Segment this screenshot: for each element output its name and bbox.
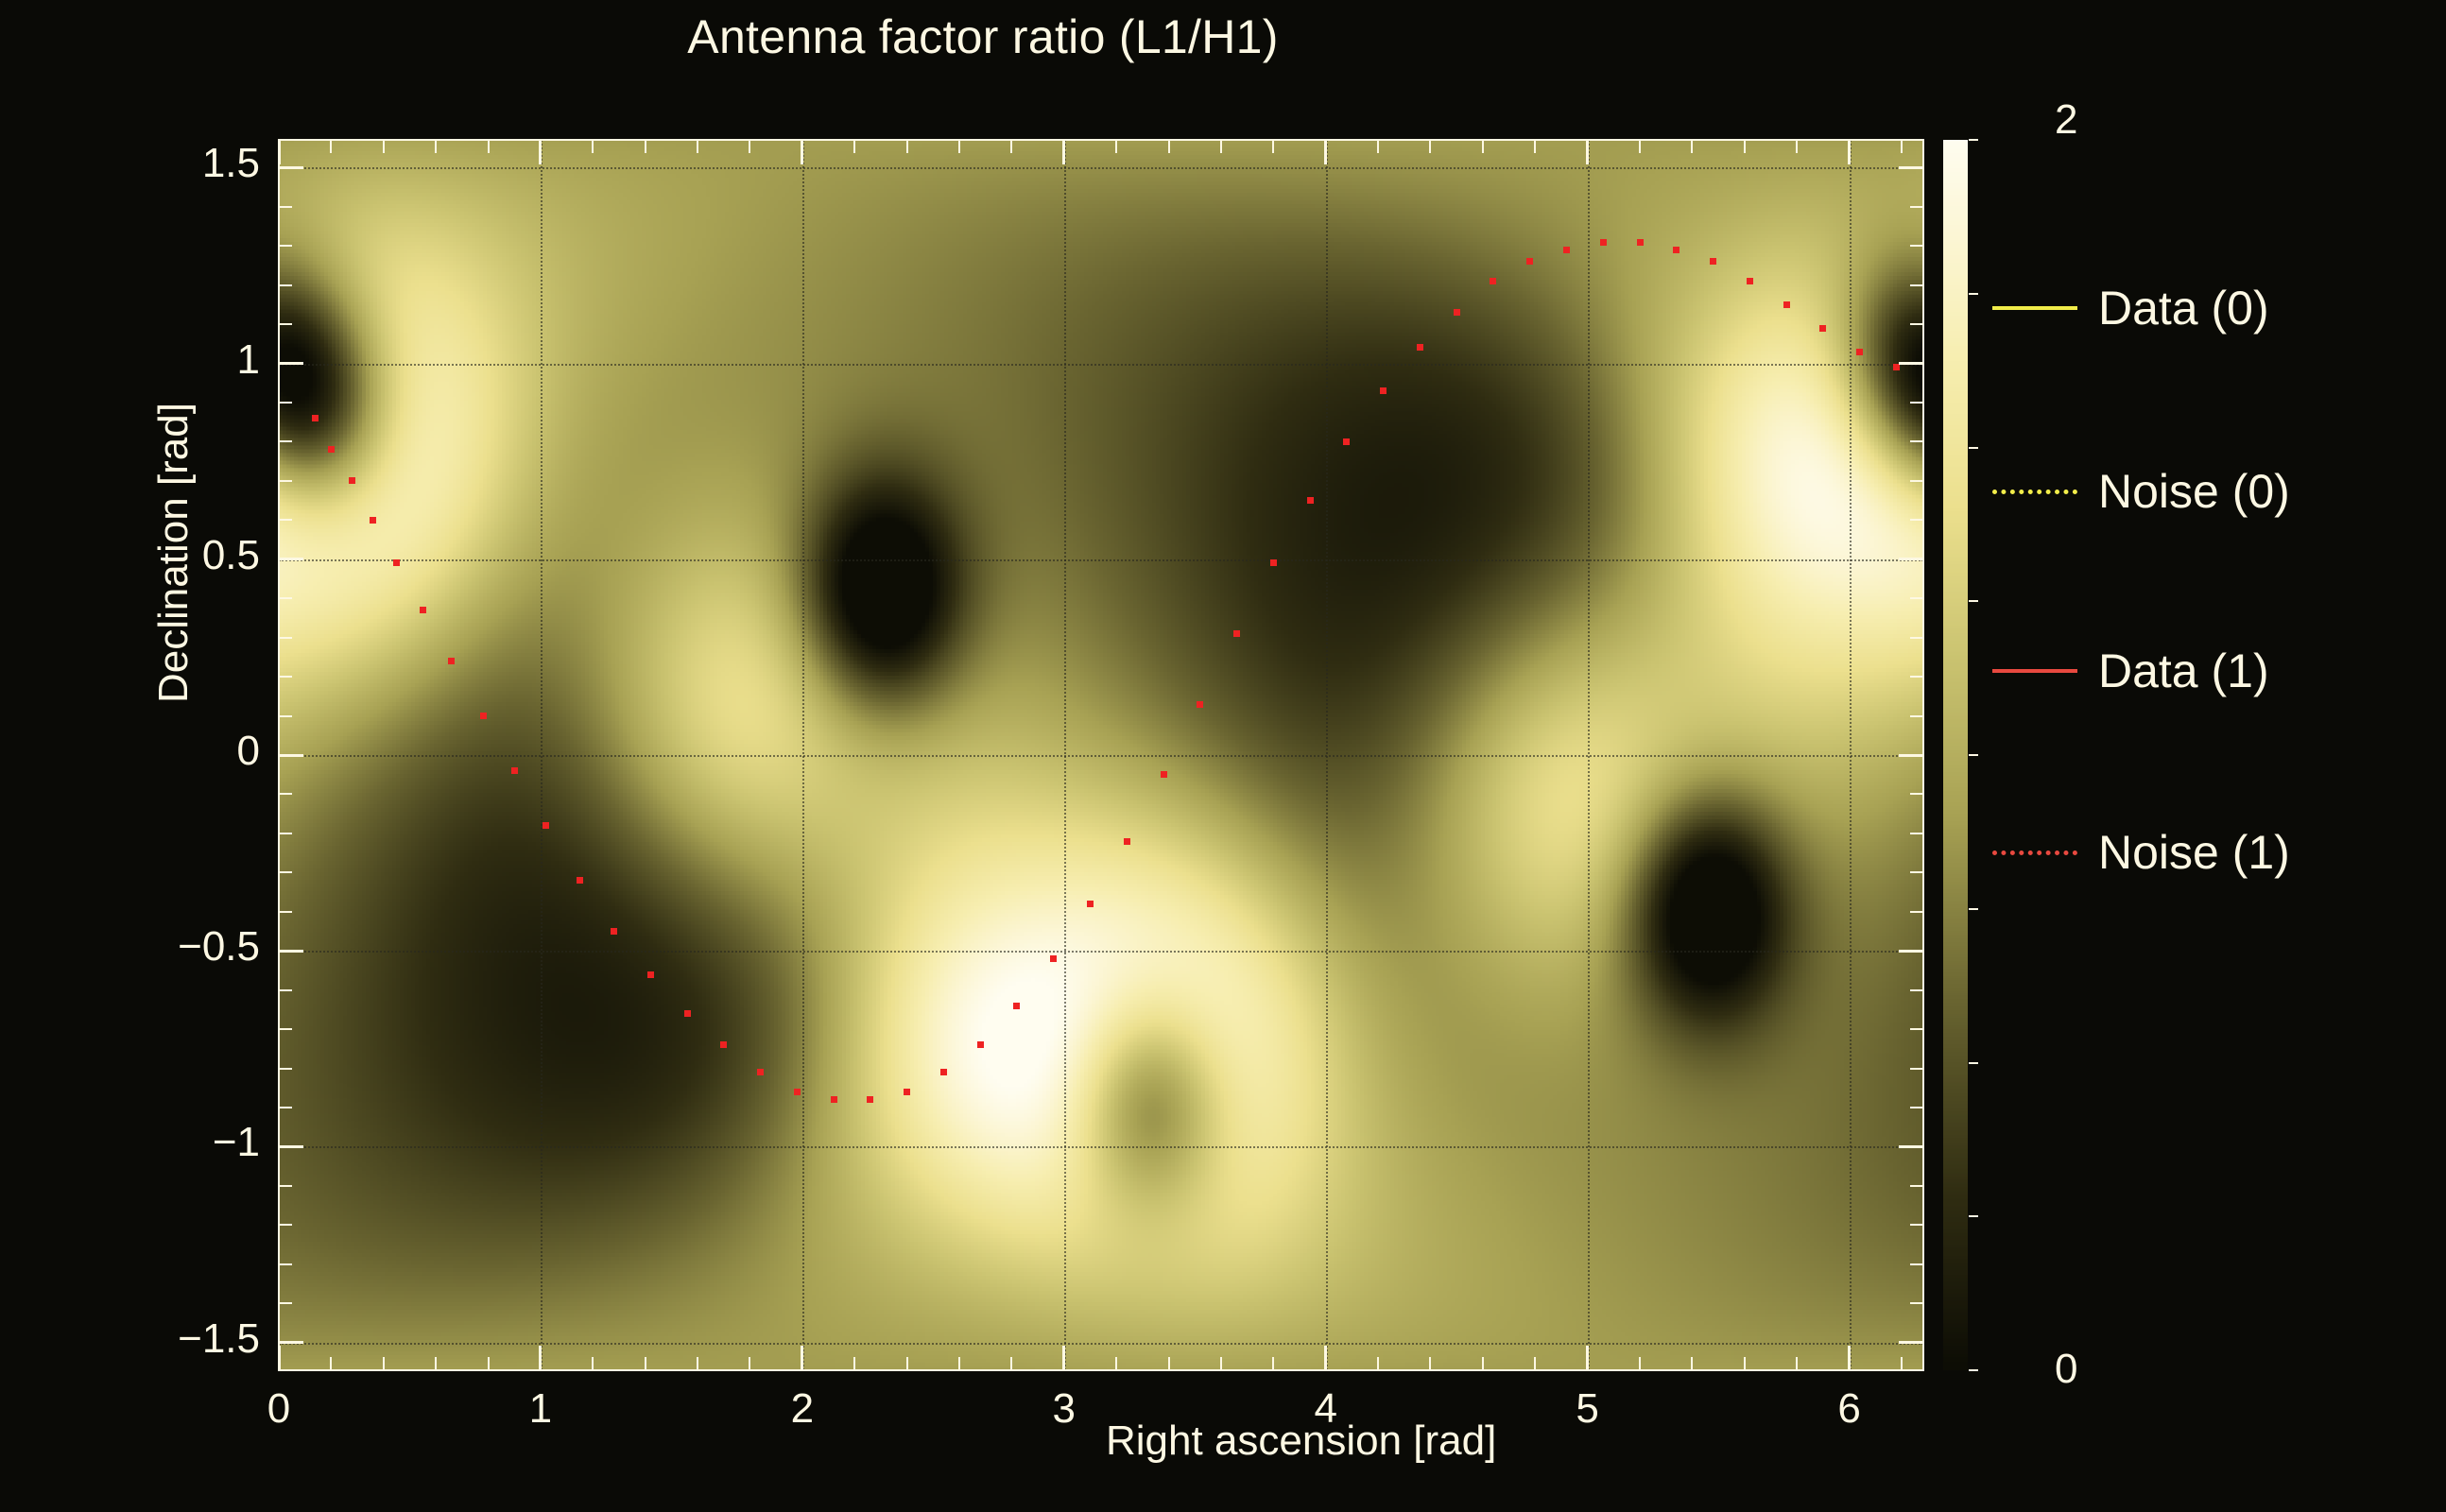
data-curve-point bbox=[757, 1069, 764, 1075]
data-curve-point bbox=[1747, 278, 1753, 284]
y-minor-tick-right bbox=[1910, 402, 1923, 404]
x-minor-tick-top bbox=[1272, 140, 1274, 153]
x-minor-tick-top bbox=[1691, 140, 1693, 153]
y-major-tick-right bbox=[1899, 1341, 1923, 1344]
x-minor-tick-top bbox=[488, 140, 490, 153]
data-curve-point bbox=[867, 1096, 873, 1103]
colorbar-tick bbox=[1969, 600, 1978, 602]
figure-canvas: Antenna factor ratio (L1/H1) 1.510.50−0.… bbox=[0, 0, 2446, 1512]
data-curve-point bbox=[312, 415, 319, 421]
data-curve-point bbox=[1637, 239, 1644, 246]
x-major-tick bbox=[1062, 1346, 1065, 1370]
x-major-tick-top bbox=[801, 140, 803, 164]
data-curve-point bbox=[720, 1041, 727, 1048]
y-minor-tick bbox=[279, 1107, 292, 1108]
y-minor-tick-right bbox=[1910, 911, 1923, 913]
data-curve-point bbox=[1343, 438, 1350, 445]
x-minor-tick-top bbox=[1796, 140, 1798, 153]
y-minor-tick bbox=[279, 1302, 292, 1304]
x-major-tick-top bbox=[539, 140, 542, 164]
colorbar-tick bbox=[1969, 1062, 1978, 1064]
y-minor-tick-right bbox=[1910, 1302, 1923, 1304]
x-minor-tick-top bbox=[1744, 140, 1746, 153]
legend-item-noise-0[interactable]: Noise (0) bbox=[1992, 463, 2290, 520]
y-minor-tick bbox=[279, 911, 292, 913]
y-major-tick-right bbox=[1899, 558, 1923, 560]
y-major-tick bbox=[279, 362, 303, 365]
x-major-tick-top bbox=[1062, 140, 1065, 164]
y-minor-tick bbox=[279, 637, 292, 639]
x-minor-tick bbox=[592, 1357, 594, 1370]
x-minor-tick bbox=[1377, 1357, 1379, 1370]
colorbar-tick bbox=[1969, 1215, 1978, 1217]
y-minor-tick bbox=[279, 1263, 292, 1265]
x-axis-tick-label: 0 bbox=[222, 1385, 336, 1433]
y-minor-tick-right bbox=[1910, 989, 1923, 991]
colorbar-top-tick-label: 2 bbox=[2055, 96, 2077, 144]
y-minor-tick-right bbox=[1910, 1185, 1923, 1187]
legend-item-data-1[interactable]: Data (1) bbox=[1992, 643, 2269, 699]
x-minor-tick-top bbox=[1482, 140, 1484, 153]
y-minor-tick-right bbox=[1910, 480, 1923, 482]
x-minor-tick bbox=[853, 1357, 855, 1370]
x-major-tick-top bbox=[1586, 140, 1589, 164]
y-minor-tick bbox=[279, 480, 292, 482]
y-major-tick-right bbox=[1899, 362, 1923, 365]
data-curve-point bbox=[904, 1089, 910, 1095]
data-curve-point bbox=[1490, 278, 1496, 284]
y-axis-tick-label: −1 bbox=[99, 1119, 260, 1166]
x-minor-tick bbox=[1220, 1357, 1222, 1370]
data-curve-point bbox=[577, 877, 583, 884]
x-minor-tick-top bbox=[958, 140, 960, 153]
y-minor-tick-right bbox=[1910, 793, 1923, 795]
y-minor-tick-right bbox=[1910, 206, 1923, 208]
x-minor-tick bbox=[435, 1357, 437, 1370]
x-minor-tick bbox=[1482, 1357, 1484, 1370]
y-minor-tick-right bbox=[1910, 1107, 1923, 1108]
y-minor-tick-right bbox=[1910, 323, 1923, 325]
data-curve-point bbox=[611, 928, 617, 935]
data-curve-point bbox=[1819, 325, 1826, 332]
x-minor-tick-top bbox=[1168, 140, 1170, 153]
data-curve-point bbox=[420, 607, 426, 613]
y-minor-tick-right bbox=[1910, 597, 1923, 599]
y-minor-tick bbox=[279, 871, 292, 873]
line-dotted-icon bbox=[1992, 490, 2077, 494]
x-minor-tick bbox=[749, 1357, 750, 1370]
data-curve-point bbox=[511, 767, 518, 774]
x-minor-tick bbox=[906, 1357, 908, 1370]
y-minor-tick-right bbox=[1910, 833, 1923, 834]
colorbar-tick bbox=[1969, 754, 1978, 756]
data-curve-point bbox=[1197, 701, 1203, 708]
y-major-tick bbox=[279, 754, 303, 757]
x-minor-tick bbox=[1272, 1357, 1274, 1370]
y-minor-tick bbox=[279, 989, 292, 991]
x-minor-tick bbox=[1010, 1357, 1012, 1370]
x-minor-tick bbox=[1168, 1357, 1170, 1370]
x-major-tick bbox=[1586, 1346, 1589, 1370]
data-curve-point bbox=[1087, 901, 1094, 907]
x-minor-tick-top bbox=[749, 140, 750, 153]
x-axis-title: Right ascension [rad] bbox=[1106, 1417, 1767, 1465]
x-minor-tick-top bbox=[906, 140, 908, 153]
x-minor-tick-top bbox=[1901, 140, 1903, 153]
data-curve-point bbox=[393, 559, 400, 566]
data-curve-overlay bbox=[279, 140, 1923, 1370]
x-minor-tick bbox=[697, 1357, 698, 1370]
data-curve-point bbox=[1050, 955, 1057, 962]
y-major-tick bbox=[279, 166, 303, 169]
data-curve-point bbox=[1417, 344, 1423, 351]
data-curve-point bbox=[349, 477, 355, 484]
colorbar-tick bbox=[1969, 908, 1978, 910]
data-curve-point bbox=[1856, 349, 1863, 355]
y-minor-tick bbox=[279, 323, 292, 325]
data-curve-point bbox=[1124, 838, 1130, 845]
y-minor-tick bbox=[279, 245, 292, 247]
x-minor-tick-top bbox=[1429, 140, 1431, 153]
line-solid-icon bbox=[1992, 306, 2077, 310]
x-minor-tick bbox=[488, 1357, 490, 1370]
y-minor-tick-right bbox=[1910, 637, 1923, 639]
data-curve-point bbox=[1270, 559, 1277, 566]
y-minor-tick bbox=[279, 676, 292, 678]
x-minor-tick bbox=[383, 1357, 385, 1370]
y-minor-tick bbox=[279, 440, 292, 442]
y-major-tick bbox=[279, 558, 303, 560]
x-minor-tick bbox=[1691, 1357, 1693, 1370]
y-axis-title: Declination [rad] bbox=[150, 288, 198, 817]
legend-item-label: Data (1) bbox=[2098, 647, 2269, 695]
y-minor-tick bbox=[279, 1224, 292, 1226]
data-curve-point bbox=[794, 1089, 801, 1095]
x-minor-tick-top bbox=[1377, 140, 1379, 153]
y-minor-tick bbox=[279, 715, 292, 717]
colorbar-frame bbox=[1942, 139, 1969, 1371]
y-minor-tick bbox=[279, 284, 292, 286]
x-minor-tick bbox=[1796, 1357, 1798, 1370]
data-curve-point bbox=[1454, 309, 1460, 316]
y-major-tick bbox=[279, 1341, 303, 1344]
x-minor-tick-top bbox=[592, 140, 594, 153]
x-minor-tick-top bbox=[330, 140, 332, 153]
y-minor-tick-right bbox=[1910, 1028, 1923, 1030]
data-curve-point bbox=[480, 713, 487, 719]
data-curve-point bbox=[831, 1096, 837, 1103]
y-minor-tick bbox=[279, 793, 292, 795]
x-major-tick-top bbox=[1324, 140, 1327, 164]
x-axis-tick-label: 2 bbox=[746, 1385, 859, 1433]
y-minor-tick-right bbox=[1910, 715, 1923, 717]
y-major-tick-right bbox=[1899, 166, 1923, 169]
x-minor-tick bbox=[958, 1357, 960, 1370]
data-curve-point bbox=[1233, 630, 1240, 637]
y-minor-tick bbox=[279, 519, 292, 521]
data-curve-point bbox=[1013, 1003, 1020, 1009]
colorbar-tick bbox=[1969, 293, 1978, 295]
x-minor-tick-top bbox=[853, 140, 855, 153]
colorbar-tick bbox=[1969, 139, 1978, 141]
y-major-tick-right bbox=[1899, 754, 1923, 757]
y-minor-tick bbox=[279, 1028, 292, 1030]
y-minor-tick bbox=[279, 1185, 292, 1187]
x-major-tick-top bbox=[1848, 140, 1851, 164]
data-curve-point bbox=[370, 517, 376, 524]
x-minor-tick-top bbox=[1639, 140, 1641, 153]
line-dotted-icon bbox=[1992, 850, 2077, 855]
y-minor-tick-right bbox=[1910, 676, 1923, 678]
page-title: Antenna factor ratio (L1/H1) bbox=[0, 9, 1966, 64]
x-minor-tick-top bbox=[1534, 140, 1536, 153]
data-curve-point bbox=[328, 446, 335, 453]
x-minor-tick-top bbox=[435, 140, 437, 153]
x-axis-tick-label: 1 bbox=[484, 1385, 597, 1433]
y-major-tick bbox=[279, 1145, 303, 1148]
legend-item-label: Noise (0) bbox=[2098, 468, 2290, 515]
x-minor-tick-top bbox=[1010, 140, 1012, 153]
y-minor-tick bbox=[279, 402, 292, 404]
y-minor-tick bbox=[279, 206, 292, 208]
legend-item-label: Noise (1) bbox=[2098, 829, 2290, 876]
legend-item-label: Data (0) bbox=[2098, 284, 2269, 332]
x-minor-tick-top bbox=[1220, 140, 1222, 153]
y-minor-tick bbox=[279, 597, 292, 599]
legend[interactable]: Data (0)Noise (0)Data (1)Noise (1) bbox=[1992, 142, 2437, 1370]
data-curve-point bbox=[1710, 258, 1716, 265]
data-curve-point bbox=[1783, 301, 1790, 308]
data-curve-point bbox=[977, 1041, 984, 1048]
x-minor-tick bbox=[1115, 1357, 1117, 1370]
x-minor-tick-top bbox=[645, 140, 646, 153]
colorbar-tick bbox=[1969, 1369, 1978, 1371]
data-curve-point bbox=[940, 1069, 947, 1075]
data-curve-point bbox=[1563, 247, 1570, 253]
y-axis-tick-label: −0.5 bbox=[99, 923, 260, 971]
data-curve-point bbox=[1673, 247, 1679, 253]
data-curve-point bbox=[1893, 364, 1900, 370]
heatmap-plot-area[interactable] bbox=[279, 140, 1923, 1370]
data-curve-point bbox=[647, 971, 654, 978]
data-curve-point bbox=[1307, 497, 1314, 504]
x-major-tick bbox=[278, 1346, 281, 1370]
y-axis-tick-label: 1.5 bbox=[99, 140, 260, 187]
colorbar-tick bbox=[1969, 447, 1978, 449]
x-minor-tick-top bbox=[383, 140, 385, 153]
x-minor-tick bbox=[645, 1357, 646, 1370]
legend-item-data-0[interactable]: Data (0) bbox=[1992, 280, 2269, 336]
y-minor-tick-right bbox=[1910, 519, 1923, 521]
x-minor-tick-top bbox=[1115, 140, 1117, 153]
data-curve-point bbox=[1526, 258, 1533, 265]
data-curve-point bbox=[684, 1010, 691, 1017]
data-curve-point bbox=[543, 822, 549, 829]
x-major-tick bbox=[1848, 1346, 1851, 1370]
data-curve-point bbox=[448, 658, 455, 664]
y-major-tick-right bbox=[1899, 1145, 1923, 1148]
y-minor-tick-right bbox=[1910, 1224, 1923, 1226]
x-minor-tick-top bbox=[697, 140, 698, 153]
y-minor-tick-right bbox=[1910, 871, 1923, 873]
x-minor-tick bbox=[330, 1357, 332, 1370]
x-major-tick-top bbox=[278, 140, 281, 164]
y-minor-tick bbox=[279, 1068, 292, 1070]
x-minor-tick bbox=[1901, 1357, 1903, 1370]
x-minor-tick bbox=[1744, 1357, 1746, 1370]
y-minor-tick-right bbox=[1910, 245, 1923, 247]
y-minor-tick-right bbox=[1910, 440, 1923, 442]
y-major-tick-right bbox=[1899, 950, 1923, 953]
y-minor-tick-right bbox=[1910, 284, 1923, 286]
y-minor-tick-right bbox=[1910, 1068, 1923, 1070]
x-axis-tick-label: 6 bbox=[1793, 1385, 1906, 1433]
y-minor-tick bbox=[279, 833, 292, 834]
y-axis-tick-label: −1.5 bbox=[99, 1315, 260, 1363]
x-major-tick bbox=[539, 1346, 542, 1370]
x-minor-tick bbox=[1429, 1357, 1431, 1370]
data-curve-point bbox=[1380, 387, 1387, 394]
x-major-tick bbox=[801, 1346, 803, 1370]
data-curve-point bbox=[1600, 239, 1607, 246]
x-minor-tick bbox=[1534, 1357, 1536, 1370]
line-solid-icon bbox=[1992, 669, 2077, 673]
y-major-tick bbox=[279, 950, 303, 953]
x-major-tick bbox=[1324, 1346, 1327, 1370]
legend-item-noise-1[interactable]: Noise (1) bbox=[1992, 824, 2290, 881]
y-minor-tick-right bbox=[1910, 1263, 1923, 1265]
x-axis-tick-label: 3 bbox=[1008, 1385, 1121, 1433]
data-curve-point bbox=[1161, 771, 1167, 778]
x-minor-tick bbox=[1639, 1357, 1641, 1370]
